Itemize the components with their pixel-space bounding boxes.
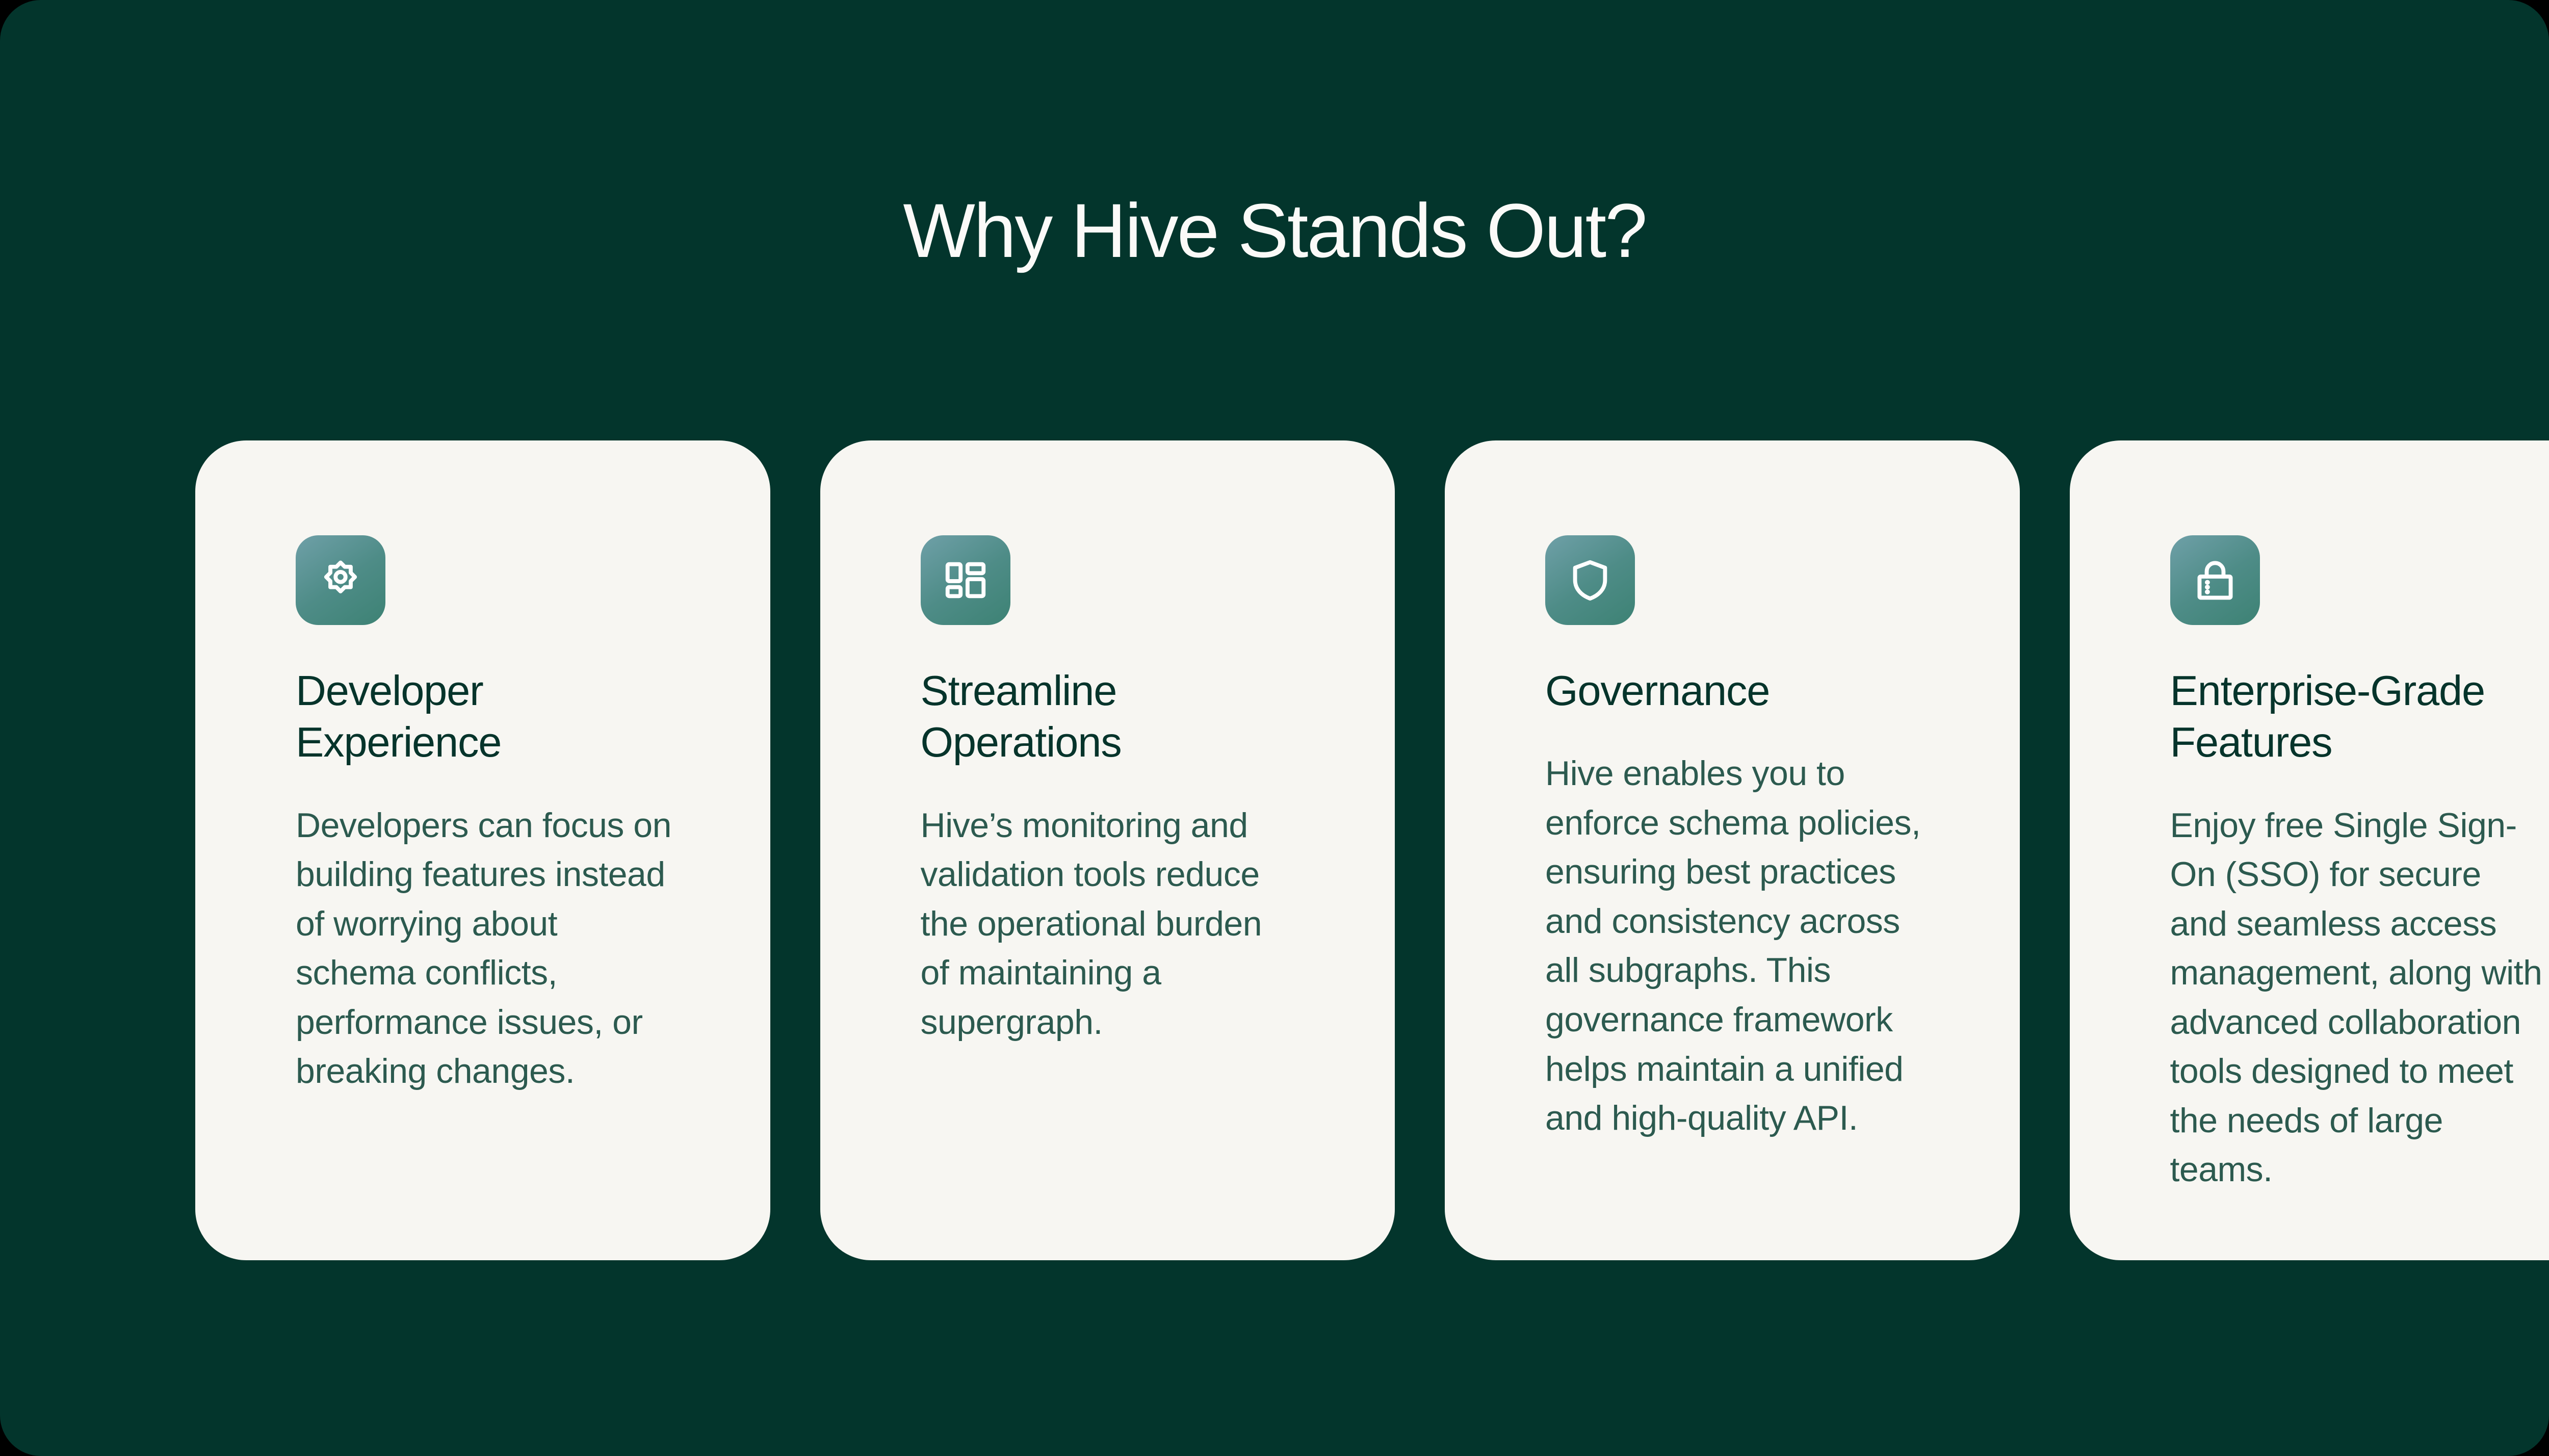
feature-card: Governance Hive enables you to enforce s…: [1445, 440, 2020, 1260]
card-body: Developers can focus on building feature…: [296, 801, 673, 1096]
feature-card: Developer Experience Developers can focu…: [195, 440, 770, 1260]
feature-card: Enterprise-Grade Features Enjoy free Sin…: [2070, 440, 2549, 1260]
feature-card: Streamline Operations Hive’s monitoring …: [820, 440, 1395, 1260]
feature-card-list: Developer Experience Developers can focu…: [195, 440, 2549, 1260]
lock-icon: [2170, 535, 2260, 625]
card-body: Hive’s monitoring and validation tools r…: [921, 801, 1298, 1047]
page-title: Why Hive Stands Out?: [0, 189, 2549, 273]
layout-dashboard-icon: [921, 535, 1010, 625]
card-title: Developer Experience: [296, 665, 673, 768]
gear-icon: [296, 535, 385, 625]
card-body: Enjoy free Single Sign-On (SSO) for secu…: [2170, 801, 2548, 1194]
feature-section: Why Hive Stands Out? Developer Experienc…: [0, 0, 2549, 1456]
card-title: Enterprise-Grade Features: [2170, 665, 2548, 768]
card-title: Governance: [1545, 665, 1923, 716]
shield-icon: [1545, 535, 1635, 625]
card-title: Streamline Operations: [921, 665, 1298, 768]
card-body: Hive enables you to enforce schema polic…: [1545, 749, 1923, 1142]
